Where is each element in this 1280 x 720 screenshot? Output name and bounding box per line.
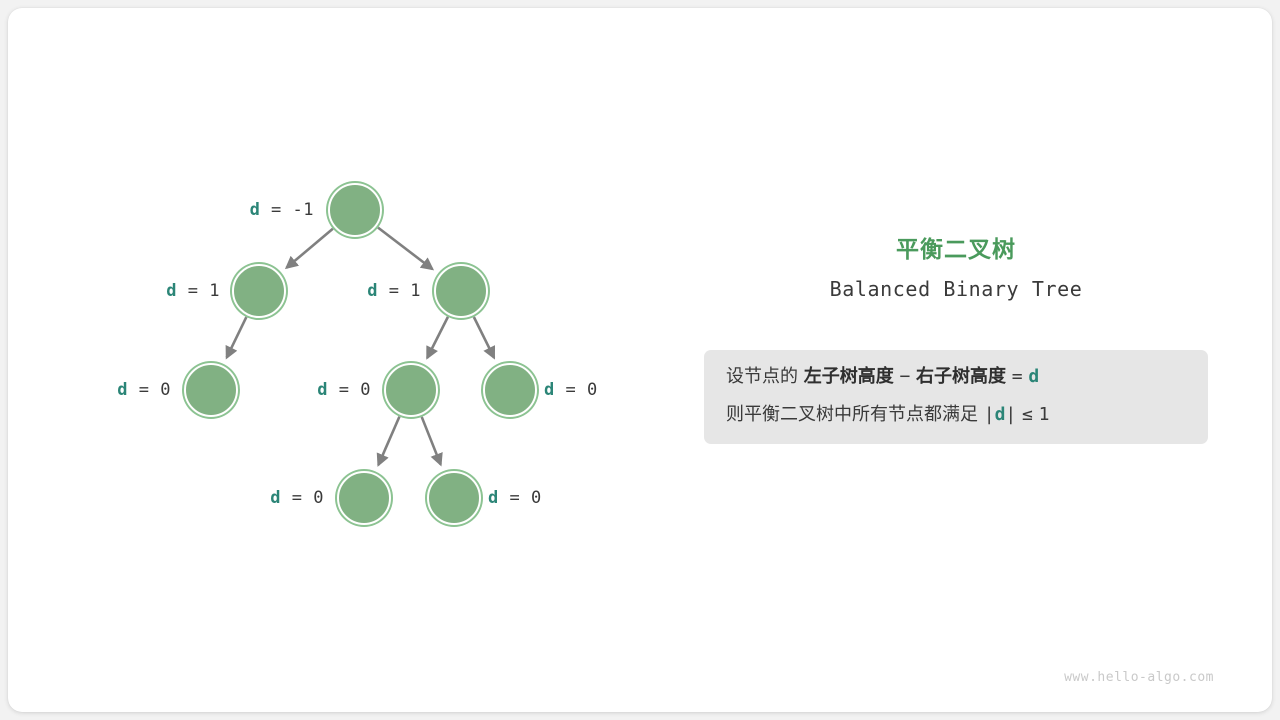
term-left-subtree-height: 左子树高度 xyxy=(804,366,894,387)
balance-variable: d xyxy=(544,380,555,400)
diagram-card: d = -1d = 1d = 1d = 0d = 0d = 0d = 0d = … xyxy=(8,8,1272,712)
node-balance-label: d = 0 xyxy=(317,380,371,400)
definition-line-2: 则平衡二叉树中所有节点都满足 |d| ≤ 1 xyxy=(726,406,1186,424)
minus-sign: − xyxy=(899,366,910,387)
tree-node[interactable] xyxy=(427,471,481,525)
tree-edge xyxy=(378,417,399,465)
balance-value: = 0 xyxy=(555,380,598,400)
balance-value: = 0 xyxy=(328,380,371,400)
abs-bar-close: | xyxy=(1005,404,1016,425)
variable-d: d xyxy=(1028,366,1039,387)
tree-node[interactable] xyxy=(434,264,488,318)
tree-node[interactable] xyxy=(328,183,382,237)
tree-node[interactable] xyxy=(184,363,238,417)
abs-bar-open: | xyxy=(984,404,995,425)
equals-sign: = xyxy=(1012,366,1023,387)
node-balance-label: d = 0 xyxy=(270,488,324,508)
comparator-sign: ≤ xyxy=(1022,404,1033,425)
balance-variable: d xyxy=(270,488,281,508)
tree-node[interactable] xyxy=(384,363,438,417)
term-right-subtree-height: 右子树高度 xyxy=(916,366,1006,387)
node-balance-label: d = 1 xyxy=(166,281,220,301)
node-balance-label: d = 1 xyxy=(367,281,421,301)
tree-edge xyxy=(287,229,333,268)
definition-prefix: 设节点的 xyxy=(726,366,798,387)
balance-variable: d xyxy=(166,281,177,301)
balance-value: = 0 xyxy=(128,380,171,400)
page-title: 平衡二叉树 xyxy=(704,230,1208,264)
tree-edge xyxy=(427,317,448,358)
balance-variable: d xyxy=(488,488,499,508)
info-panel: 平衡二叉树 Balanced Binary Tree 设节点的 左子树高度 − … xyxy=(704,230,1208,444)
balance-value: = 1 xyxy=(177,281,220,301)
balance-variable: d xyxy=(367,281,378,301)
node-balance-label: d = 0 xyxy=(117,380,171,400)
balance-variable: d xyxy=(117,380,128,400)
tree-node[interactable] xyxy=(232,264,286,318)
tree-edge xyxy=(474,317,494,358)
definition-line-1: 设节点的 左子树高度 − 右子树高度 = d xyxy=(726,368,1186,386)
watermark: www.hello-algo.com xyxy=(1064,670,1214,685)
tree-node[interactable] xyxy=(337,471,391,525)
balance-variable: d xyxy=(250,200,261,220)
tree-edge xyxy=(227,317,247,358)
node-balance-label: d = -1 xyxy=(250,200,314,220)
balance-value: = -1 xyxy=(260,200,314,220)
tree-node[interactable] xyxy=(483,363,537,417)
condition-prefix: 则平衡二叉树中所有节点都满足 xyxy=(726,404,978,425)
balance-variable: d xyxy=(317,380,328,400)
balance-value: = 0 xyxy=(281,488,324,508)
bound-value: 1 xyxy=(1039,404,1050,425)
tree-edge xyxy=(378,228,432,270)
node-balance-label: d = 0 xyxy=(544,380,598,400)
page-subtitle: Balanced Binary Tree xyxy=(704,277,1208,301)
node-balance-label: d = 0 xyxy=(488,488,542,508)
definition-box: 设节点的 左子树高度 − 右子树高度 = d 则平衡二叉树中所有节点都满足 |d… xyxy=(704,350,1208,444)
balance-value: = 0 xyxy=(499,488,542,508)
variable-d-abs: d xyxy=(995,404,1006,425)
balance-value: = 1 xyxy=(378,281,421,301)
tree-edge xyxy=(422,417,441,465)
